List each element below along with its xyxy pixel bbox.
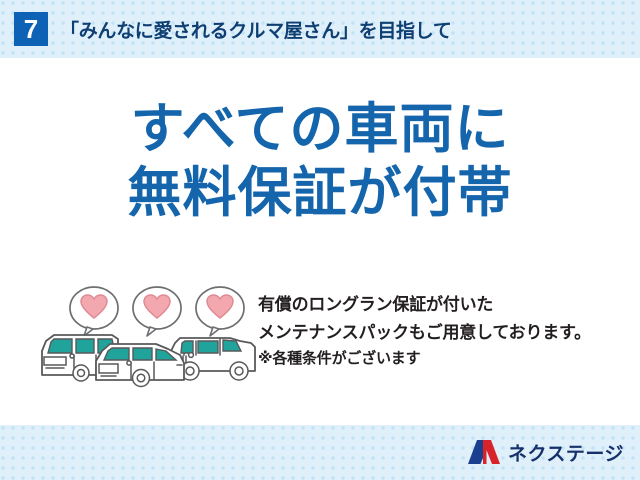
section-number-badge: 7: [14, 12, 48, 46]
main-content: すべての車両に 無料保証が付帯: [0, 58, 640, 425]
headline: すべての車両に 無料保証が付帯: [0, 98, 640, 225]
headline-line-2: 無料保証が付帯: [0, 162, 640, 226]
lower-section: 有償のロングラン保証が付いた メンテナンスパックもご用意しております。 ※各種条…: [0, 283, 640, 423]
headline-line-1: すべての車両に: [0, 98, 640, 162]
promo-banner: 7 「みんなに愛されるクルマ屋さん」を目指して すべての車両に 無料保証が付帯: [0, 0, 640, 480]
body-copy-line-1: 有償のロングラン保証が付いた: [258, 291, 634, 319]
body-copy-note: ※各種条件がございます: [258, 346, 634, 372]
brand-logo-text: ネクステージ: [508, 439, 624, 466]
nexstage-n-mark-icon: [467, 439, 501, 465]
body-copy: 有償のロングラン保証が付いた メンテナンスパックもご用意しております。 ※各種条…: [258, 291, 634, 372]
cars-with-hearts-illustration: [34, 283, 259, 395]
header: 7 「みんなに愛されるクルマ屋さん」を目指して: [0, 0, 640, 58]
car-suv-windows: [181, 340, 241, 353]
body-copy-line-2: メンテナンスパックもご用意しております。: [258, 319, 634, 347]
brand-logo: ネクステージ: [467, 436, 624, 468]
header-title: 「みんなに愛されるクルマ屋さん」を目指して: [60, 16, 452, 43]
